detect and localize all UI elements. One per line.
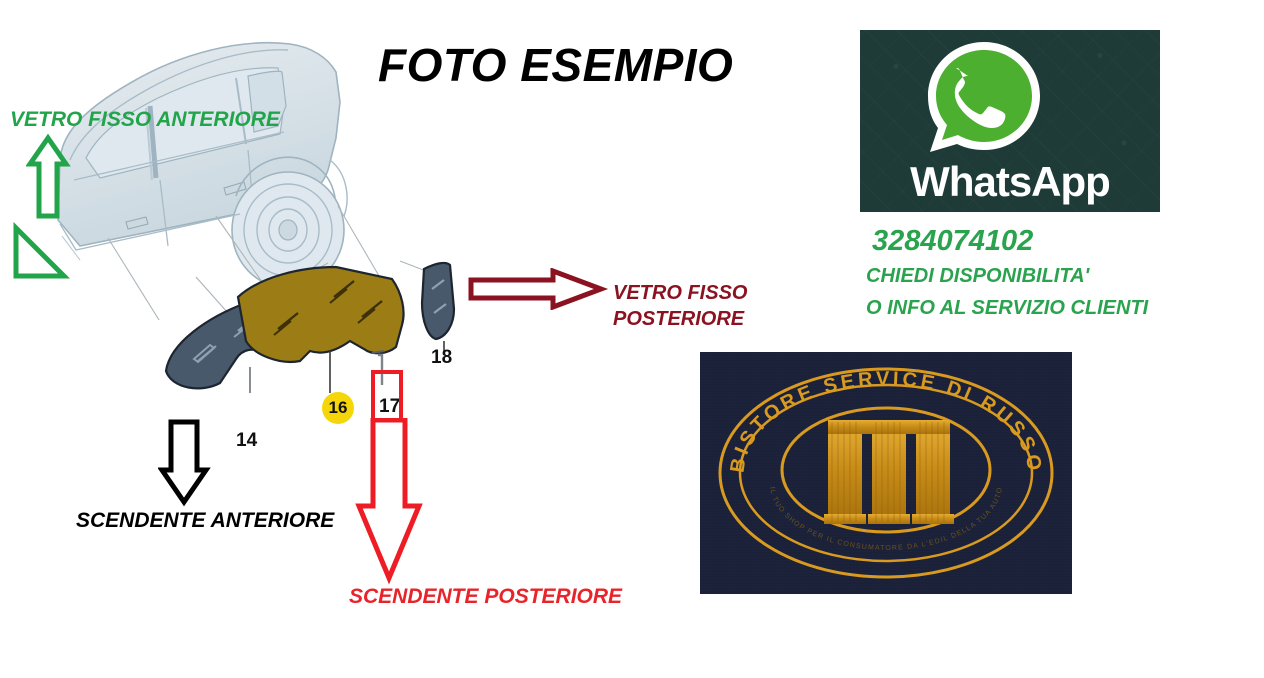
down-arrow-icon [158,416,218,508]
right-arrow-icon [465,268,610,310]
shop-logo: MRICAMBISTORE SERVICE DI RUSSO MARCO IL … [700,352,1072,594]
part-17-highlight-box [371,370,403,422]
triangle-outline-icon [8,222,70,284]
part-number-16-badge: 16 [322,392,354,424]
part-number-18: 18 [431,347,452,369]
part-number-14: 14 [236,430,257,452]
contact-line-1: CHIEDI DISPONIBILITA' [866,265,1089,288]
phone-number[interactable]: 3284074102 [872,225,1033,258]
page-title: FOTO ESEMPIO [378,38,798,92]
contact-line-2: O INFO AL SERVIZIO CLIENTI [866,297,1148,320]
label-vetro-fisso-posteriore: VETRO FISSO POSTERIORE [613,280,747,332]
whatsapp-banner[interactable]: WhatsApp [860,30,1160,212]
whatsapp-wordmark: WhatsApp [860,158,1160,206]
screenshot-canvas: 14 16 17 18 FOTO ESEMPIO VETRO FISSO ANT… [0,0,1264,678]
up-arrow-icon [26,130,74,222]
label-scendente-posteriore: SCENDENTE POSTERIORE [349,585,622,610]
whatsapp-logo-icon [916,36,1052,162]
glass-parts-group [150,255,470,435]
down-arrow-long-icon [355,418,437,586]
label-scendente-anteriore: SCENDENTE ANTERIORE [76,509,334,534]
